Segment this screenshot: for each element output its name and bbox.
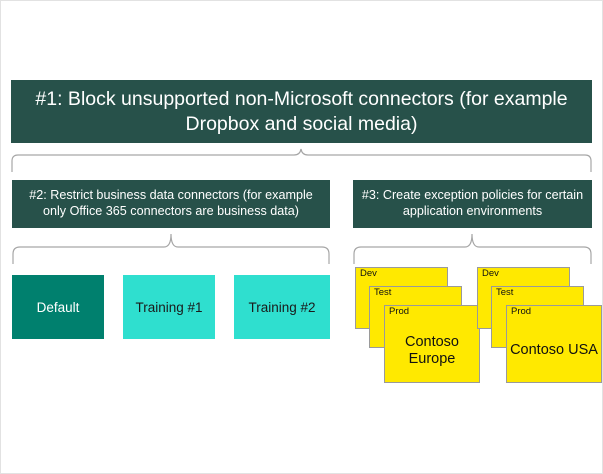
brace-level1-to-level2 [11,147,592,172]
environment-card-dev-label: Dev [482,269,499,280]
environment-card-test-label: Test [374,288,391,299]
environment-card-title: Contoso USA [507,322,601,380]
environment-card-prod[interactable]: Prod Contoso Europe [384,305,480,383]
level2-box-3-label: #3: Create exception policies for certai… [359,188,586,219]
level1-box-label: #1: Block unsupported non-Microsoft conn… [17,87,586,135]
policy-box-default[interactable]: Default [12,275,104,339]
level1-box-block-unsupported-connectors[interactable]: #1: Block unsupported non-Microsoft conn… [11,80,592,143]
level2-box-restrict-business-data-connectors[interactable]: #2: Restrict business data connectors (f… [12,180,330,228]
slide-border [0,0,603,474]
environment-card-prod[interactable]: Prod Contoso USA [506,305,602,383]
level2-box-2-label: #2: Restrict business data connectors (f… [18,188,324,219]
environment-card-title: Contoso Europe [385,322,479,380]
environment-card-test-label: Test [496,288,513,299]
environment-card-prod-label: Prod [511,307,531,318]
policy-box-training-2-label: Training #2 [248,300,315,315]
policy-box-default-label: Default [37,300,80,315]
slide-canvas: #1: Block unsupported non-Microsoft conn… [0,0,603,474]
brace-level2-to-policies [12,232,330,264]
environment-stack-contoso-europe[interactable]: Dev Test Prod Contoso Europe [355,267,485,387]
environment-card-prod-label: Prod [389,307,409,318]
environment-card-dev-label: Dev [360,269,377,280]
brace-level2-to-environments [353,232,592,264]
policy-box-training-1[interactable]: Training #1 [123,275,215,339]
policy-box-training-1-label: Training #1 [135,300,202,315]
policy-box-training-2[interactable]: Training #2 [234,275,330,339]
environment-stack-contoso-usa[interactable]: Dev Test Prod Contoso USA [477,267,603,387]
level2-box-create-exception-policies[interactable]: #3: Create exception policies for certai… [353,180,592,228]
